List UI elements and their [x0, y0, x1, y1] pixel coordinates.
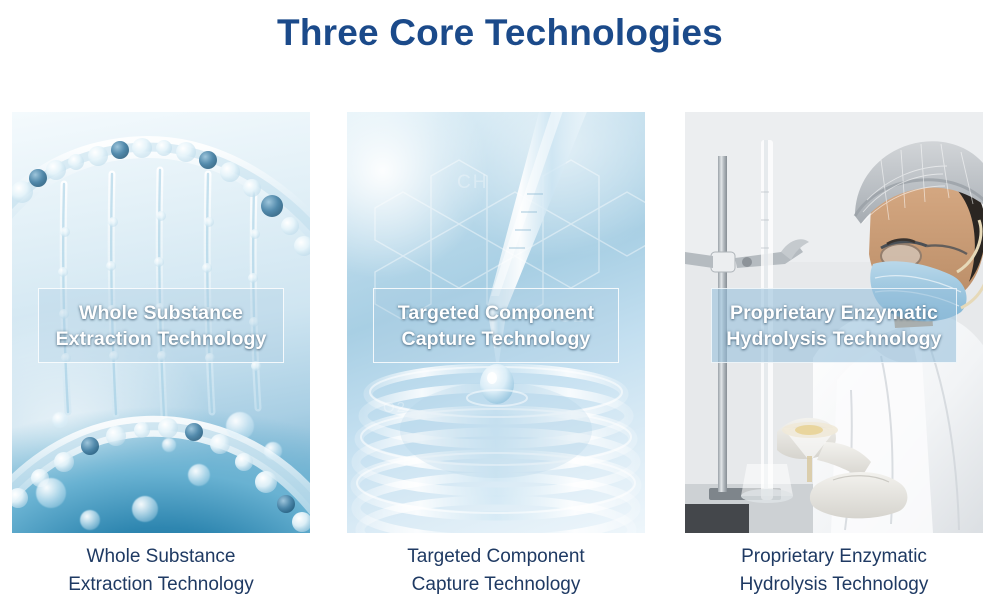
- technology-card-whole-substance-extraction[interactable]: Whole Substance Extraction Technology: [12, 112, 310, 533]
- technology-card-row: Whole Substance Extraction Technology: [0, 112, 1000, 533]
- bokeh-dot: [264, 442, 282, 460]
- caption-line-2: Hydrolysis Technology: [685, 571, 983, 599]
- caption-line-1: Proprietary Enzymatic: [685, 543, 983, 571]
- overlay-line-2: Extraction Technology: [56, 326, 267, 352]
- caption-row: Whole Substance Extraction Technology Ta…: [0, 543, 1000, 601]
- caption-line-1: Targeted Component: [347, 543, 645, 571]
- overlay-text: Proprietary Enzymatic Hydrolysis Technol…: [726, 300, 941, 352]
- technology-card-targeted-component-capture[interactable]: CH 4C2 O2: [347, 112, 645, 533]
- slide-root: Three Core Technologies: [0, 0, 1000, 600]
- card-overlay-label-whole-substance-extraction: Whole Substance Extraction Technology: [38, 288, 284, 363]
- caption-line-2: Capture Technology: [347, 571, 645, 599]
- page-title: Three Core Technologies: [0, 10, 1000, 56]
- caption-line-2: Extraction Technology: [12, 571, 310, 599]
- overlay-line-1: Whole Substance: [56, 300, 267, 326]
- bokeh-dot: [188, 464, 210, 486]
- bokeh-dot: [132, 496, 158, 522]
- overlay-line-1: Proprietary Enzymatic: [726, 300, 941, 326]
- bokeh-dot: [36, 478, 66, 508]
- caption-line-1: Whole Substance: [12, 543, 310, 571]
- caption-proprietary-enzymatic-hydrolysis: Proprietary Enzymatic Hydrolysis Technol…: [685, 543, 983, 599]
- card-overlay-label-proprietary-enzymatic-hydrolysis: Proprietary Enzymatic Hydrolysis Technol…: [711, 288, 957, 363]
- technology-card-proprietary-enzymatic-hydrolysis[interactable]: Proprietary Enzymatic Hydrolysis Technol…: [685, 112, 983, 533]
- bokeh-dot: [52, 412, 68, 428]
- caption-targeted-component-capture: Targeted Component Capture Technology: [347, 543, 645, 599]
- caption-whole-substance-extraction: Whole Substance Extraction Technology: [12, 543, 310, 599]
- overlay-line-2: Capture Technology: [398, 326, 594, 352]
- overlay-text: Targeted Component Capture Technology: [398, 300, 594, 352]
- bokeh-dot: [162, 438, 176, 452]
- overlay-line-1: Targeted Component: [398, 300, 594, 326]
- card-overlay-label-targeted-component-capture: Targeted Component Capture Technology: [373, 288, 619, 363]
- bokeh-dot: [226, 412, 254, 440]
- overlay-line-2: Hydrolysis Technology: [726, 326, 941, 352]
- overlay-text: Whole Substance Extraction Technology: [56, 300, 267, 352]
- bokeh-dot: [80, 510, 100, 530]
